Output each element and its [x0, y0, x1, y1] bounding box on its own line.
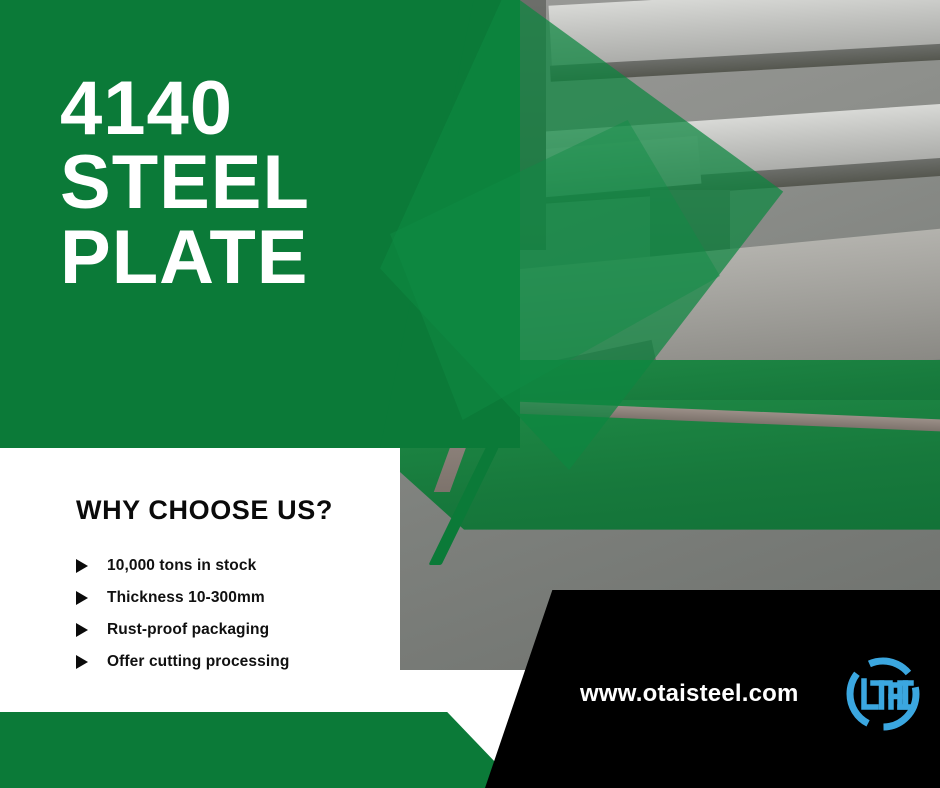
bottom-green-band [0, 712, 520, 788]
poster-canvas: 4140 STEEL PLATE WHY CHOOSE US? 10,000 t… [0, 0, 940, 788]
list-item: Thickness 10-300mm [74, 582, 289, 614]
website-url[interactable]: www.otaisteel.com [580, 680, 799, 708]
triangle-right-icon [74, 654, 96, 670]
feature-label: 10,000 tons in stock [107, 557, 256, 575]
otai-ring-logo-icon [842, 653, 924, 735]
hero-title: 4140 STEEL PLATE [60, 72, 310, 295]
triangle-right-icon [74, 622, 96, 638]
list-item: 10,000 tons in stock [74, 550, 289, 582]
list-item: Offer cutting processing [74, 646, 289, 678]
feature-label: Rust-proof packaging [107, 621, 269, 639]
why-choose-us-heading: WHY CHOOSE US? [76, 495, 333, 526]
list-item: Rust-proof packaging [74, 614, 289, 646]
feature-label: Offer cutting processing [107, 653, 289, 671]
hero-title-line-1: 4140 [60, 72, 310, 146]
feature-label: Thickness 10-300mm [107, 589, 265, 607]
feature-list: 10,000 tons in stock Thickness 10-300mm … [74, 550, 289, 678]
triangle-right-icon [74, 590, 96, 606]
hero-title-line-3: PLATE [60, 221, 310, 295]
triangle-right-icon [74, 558, 96, 574]
hero-title-line-2: STEEL [60, 146, 310, 220]
